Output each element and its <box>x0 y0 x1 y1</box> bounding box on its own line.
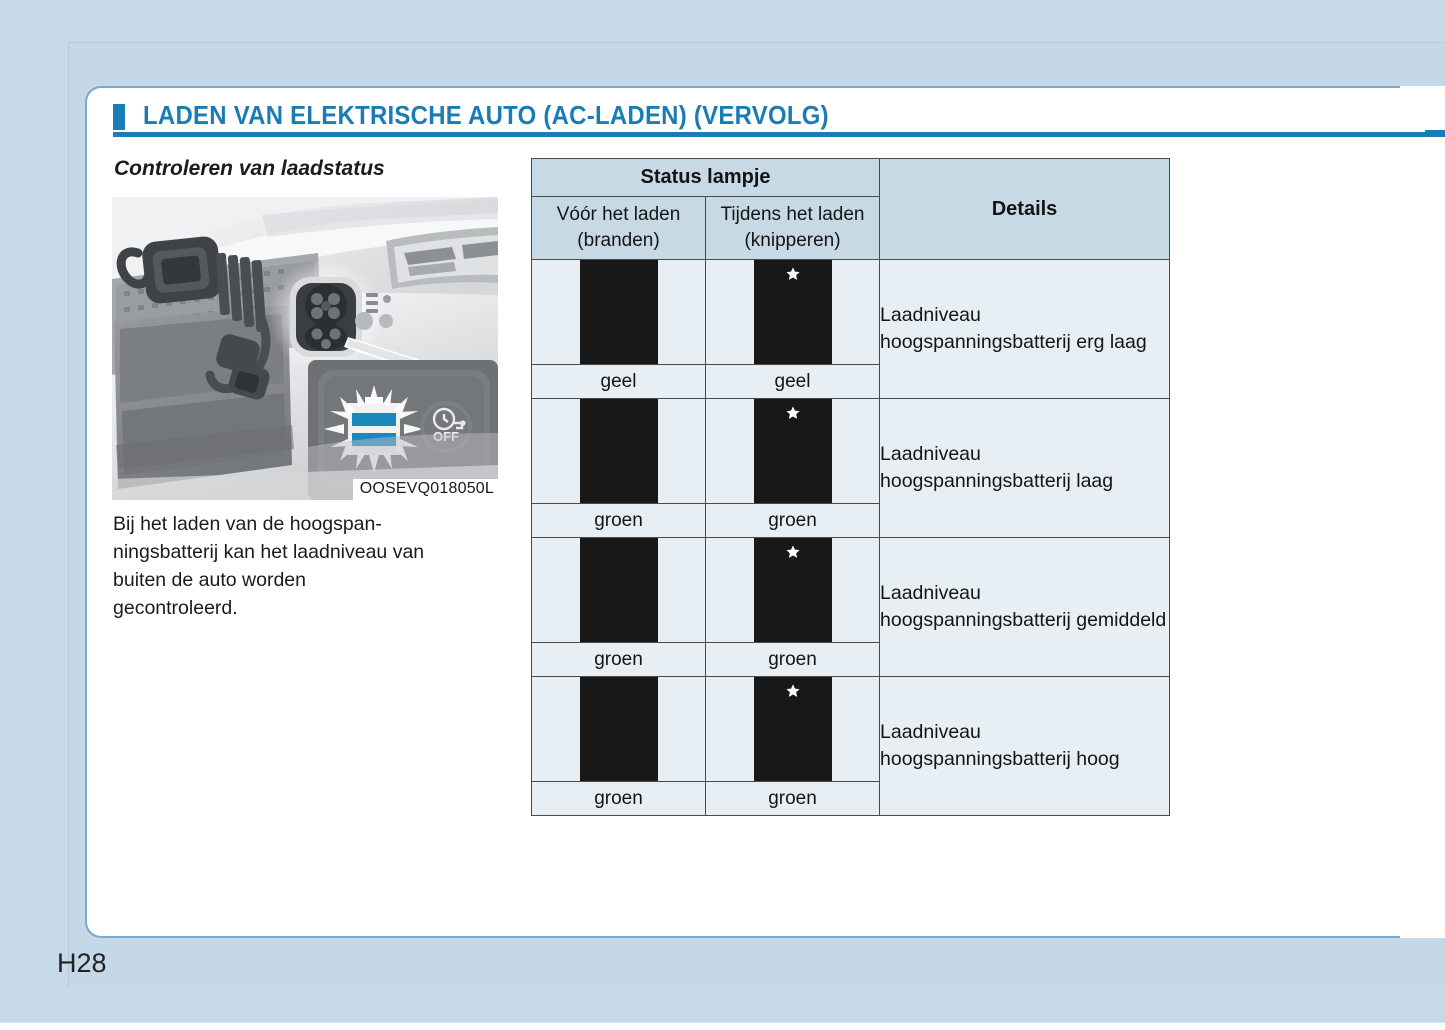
ev-charging-port-illustration: OFF OOSEVQ018050L <box>112 197 498 500</box>
battery-icon-before-row4 <box>532 677 706 782</box>
table-header-row-1: Status lampje Details <box>532 159 1170 197</box>
page-bottom-strip <box>0 1022 1445 1030</box>
table-row: Laadniveau hoogspanningsbatterij gemidde… <box>532 538 1170 643</box>
star-icon <box>785 683 800 698</box>
header-rule <box>113 132 1425 137</box>
battery-icon-before-row3 <box>532 538 706 643</box>
color-label-before-row1: geel <box>532 365 706 399</box>
battery-icon-before-row1 <box>532 260 706 365</box>
details-text-row1: Laadniveau hoogspanningsbatterij erg laa… <box>880 260 1170 399</box>
illustration-svg: OFF <box>112 197 498 500</box>
subsection-heading: Controleren van laadstatus <box>114 157 385 181</box>
battery-indicator-icon <box>754 399 832 503</box>
color-label-before-row2: groen <box>532 504 706 538</box>
header-status-lampje: Status lampje <box>532 159 880 197</box>
battery-indicator-icon <box>754 538 832 642</box>
battery-icon-during-row2 <box>706 399 880 504</box>
color-label-before-row3: groen <box>532 643 706 677</box>
battery-icon-during-row4 <box>706 677 880 782</box>
battery-indicator-icon <box>580 260 658 364</box>
table-row: Laadniveau hoogspanningsbatterij hoog <box>532 677 1170 782</box>
details-text-row2: Laadniveau hoogspanningsbatterij laag <box>880 399 1170 538</box>
header-details: Details <box>880 159 1170 260</box>
battery-indicator-icon <box>580 399 658 503</box>
section-accent-bar <box>113 104 125 130</box>
figure-caption: OOSEVQ018050L <box>353 479 498 500</box>
color-label-during-row3: groen <box>706 643 880 677</box>
battery-indicator-icon <box>754 677 832 781</box>
content-card-bleed-right <box>1400 86 1445 938</box>
battery-indicator-icon <box>580 677 658 781</box>
header-during-charging: Tijdens het laden (knipperen) <box>706 197 880 260</box>
star-icon <box>785 266 800 281</box>
body-line-3: buiten de auto worden <box>113 566 501 594</box>
battery-icon-during-row3 <box>706 538 880 643</box>
battery-icon-during-row1 <box>706 260 880 365</box>
color-label-during-row1: geel <box>706 365 880 399</box>
body-line-4: gecontroleerd. <box>113 594 501 622</box>
battery-indicator-icon <box>754 260 832 364</box>
battery-indicator-icon <box>580 538 658 642</box>
details-text-row3: Laadniveau hoogspanningsbatterij gemidde… <box>880 538 1170 677</box>
color-label-before-row4: groen <box>532 782 706 816</box>
header-before-charging: Vóór het laden (branden) <box>532 197 706 260</box>
color-label-during-row4: groen <box>706 782 880 816</box>
body-line-2: ningsbatterij kan het laadniveau van <box>113 538 501 566</box>
header-during-line1: Tijdens het laden <box>706 202 879 228</box>
header-rule-tail <box>1425 130 1445 137</box>
table-row: Laadniveau hoogspanningsbatterij erg laa… <box>532 260 1170 365</box>
header-before-line2: (branden) <box>532 228 705 254</box>
body-paragraph: Bij het laden van de hoogspan- ningsbatt… <box>113 510 501 622</box>
details-text-row4: Laadniveau hoogspanningsbatterij hoog <box>880 677 1170 816</box>
status-lamp-table: Status lampje Details Vóór het laden (br… <box>531 158 1170 816</box>
header-before-line1: Vóór het laden <box>532 202 705 228</box>
page-number: H28 <box>57 948 107 979</box>
battery-icon-before-row2 <box>532 399 706 504</box>
body-line-1: Bij het laden van de hoogspan- <box>113 510 501 538</box>
table-row: Laadniveau hoogspanningsbatterij laag <box>532 399 1170 504</box>
star-icon <box>785 544 800 559</box>
page-title: LADEN VAN ELEKTRISCHE AUTO (AC-LADEN) (V… <box>143 100 829 131</box>
header-during-line2: (knipperen) <box>706 228 879 254</box>
manual-page: LADEN VAN ELEKTRISCHE AUTO (AC-LADEN) (V… <box>0 0 1445 1030</box>
color-label-during-row2: groen <box>706 504 880 538</box>
star-icon <box>785 405 800 420</box>
